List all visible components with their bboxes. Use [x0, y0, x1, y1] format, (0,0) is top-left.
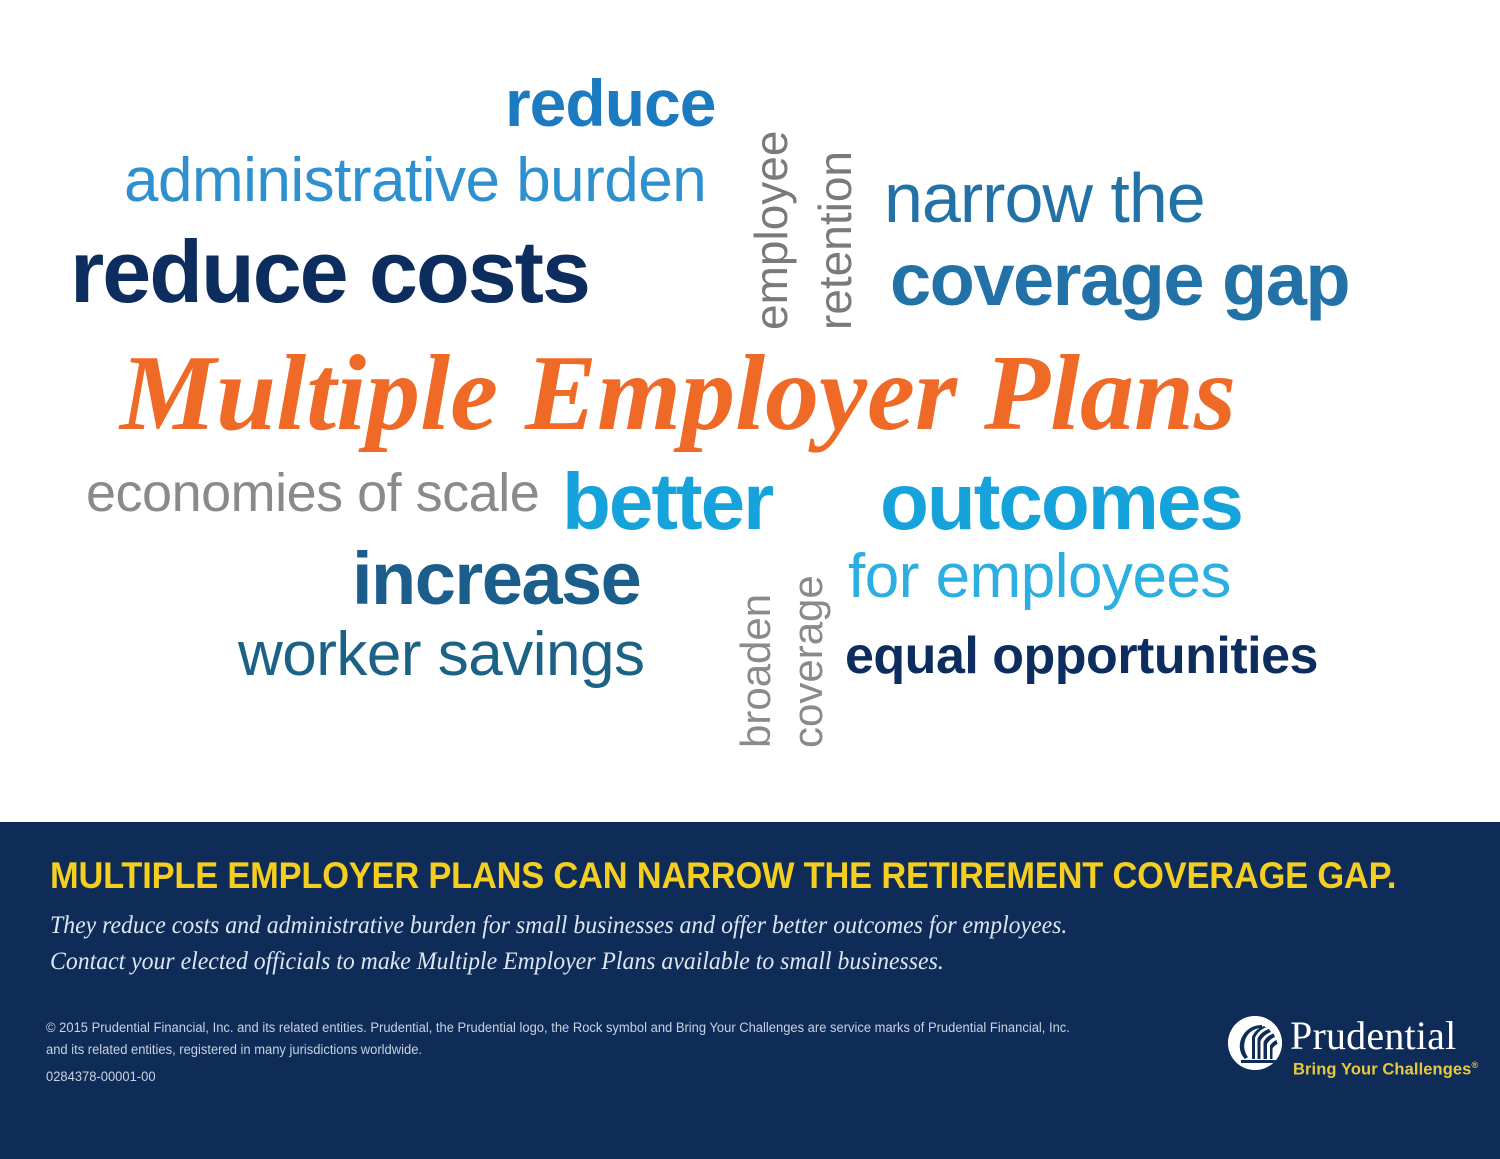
word-retention: retention	[812, 151, 858, 330]
word-worker-savings: worker savings	[238, 624, 644, 686]
legal-line-1: © 2015 Prudential Financial, Inc. and it…	[46, 1017, 1070, 1039]
logo-tagline-text: Bring Your Challenges	[1293, 1061, 1471, 1079]
word-narrow-the: narrow the	[884, 163, 1205, 233]
footer-body-line-2: Contact your elected officials to make M…	[50, 944, 1067, 980]
word-economies-of-scale: economies of scale	[86, 466, 539, 520]
footer-headline: MULTIPLE EMPLOYER PLANS CAN NARROW THE R…	[50, 855, 1396, 897]
word-employee: employee	[748, 131, 794, 330]
footer-body: They reduce costs and administrative bur…	[50, 908, 1067, 979]
logo-tagline: Bring Your Challenges®	[1293, 1060, 1478, 1080]
word-broaden: broaden	[735, 594, 777, 748]
word-multiple-employer-plans: Multiple Employer Plans	[120, 340, 1236, 448]
word-coverage-gap: coverage gap	[890, 243, 1349, 317]
registered-mark-icon: ®	[1471, 1060, 1478, 1070]
word-reduce: reduce	[505, 70, 715, 136]
word-cloud: reduce administrative burden reduce cost…	[0, 0, 1500, 822]
word-reduce-costs: reduce costs	[70, 228, 589, 316]
word-coverage: coverage	[787, 575, 829, 748]
legal-disclaimer: © 2015 Prudential Financial, Inc. and it…	[46, 1017, 1070, 1088]
prudential-logo: Prudential Bring Your Challenges®	[1228, 1010, 1458, 1090]
word-increase: increase	[352, 542, 640, 616]
footer-body-line-1: They reduce costs and administrative bur…	[50, 908, 1067, 944]
logo-wordmark: Prudential	[1290, 1014, 1456, 1058]
word-better: better	[562, 462, 772, 542]
word-for-employees: for employees	[848, 546, 1231, 608]
poster-canvas: reduce administrative burden reduce cost…	[0, 0, 1500, 1159]
rock-symbol-icon	[1228, 1016, 1282, 1070]
word-equal-opportunities: equal opportunities	[845, 630, 1318, 682]
legal-line-2: and its related entities, registered in …	[46, 1039, 1070, 1061]
word-outcomes: outcomes	[880, 462, 1242, 542]
legal-document-code: 0284378-00001-00	[46, 1066, 1070, 1088]
word-administrative-burden: administrative burden	[124, 150, 706, 212]
footer-band: MULTIPLE EMPLOYER PLANS CAN NARROW THE R…	[0, 822, 1500, 1159]
